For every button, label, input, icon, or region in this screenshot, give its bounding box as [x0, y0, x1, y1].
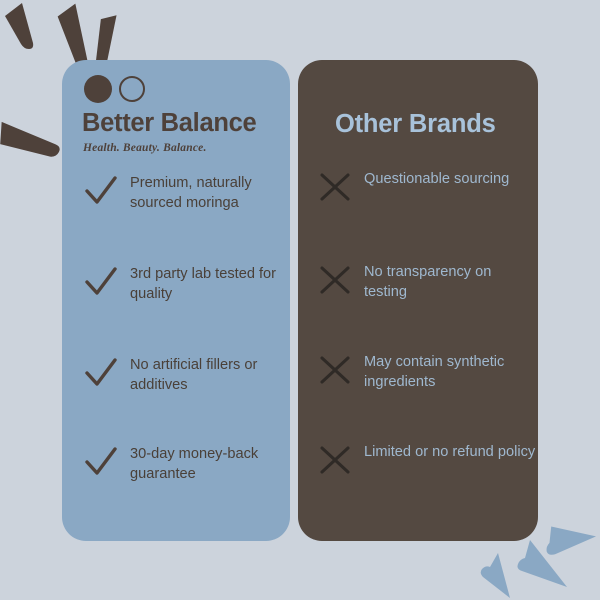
x-icon [318, 443, 352, 477]
check-icon [84, 265, 118, 299]
list-item: Questionable sourcing [318, 170, 509, 204]
list-item-label: 3rd party lab tested for quality [130, 265, 290, 305]
list-item-label: No transparency on testing [364, 263, 538, 303]
list-item-label: Limited or no refund policy [364, 443, 535, 463]
other-brands-card: Other Brands Questionable sourcing No tr… [298, 60, 538, 541]
list-item-label: Premium, naturally sourced moringa [130, 174, 290, 214]
list-item: May contain synthetic ingredients [318, 353, 538, 393]
list-item-label: May contain synthetic ingredients [364, 353, 538, 393]
benefits-list: Premium, naturally sourced moringa 3rd p… [62, 60, 290, 541]
comparison-graphic: Better Balance Health. Beauty. Balance. … [0, 0, 600, 600]
list-item: Limited or no refund policy [318, 443, 535, 477]
list-item: 30-day money-back guarantee [84, 445, 290, 485]
x-icon [318, 263, 352, 297]
list-item: Premium, naturally sourced moringa [84, 174, 290, 214]
list-item-label: No artificial fillers or additives [130, 356, 290, 396]
drawbacks-list: Questionable sourcing No transparency on… [298, 60, 538, 541]
list-item: No artificial fillers or additives [84, 356, 290, 396]
list-item-label: Questionable sourcing [364, 170, 509, 190]
x-icon [318, 170, 352, 204]
check-icon [84, 356, 118, 390]
list-item: 3rd party lab tested for quality [84, 265, 290, 305]
check-icon [84, 174, 118, 208]
list-item: No transparency on testing [318, 263, 538, 303]
list-item-label: 30-day money-back guarantee [130, 445, 290, 485]
better-balance-card: Better Balance Health. Beauty. Balance. … [62, 60, 290, 541]
check-icon [84, 445, 118, 479]
x-icon [318, 353, 352, 387]
